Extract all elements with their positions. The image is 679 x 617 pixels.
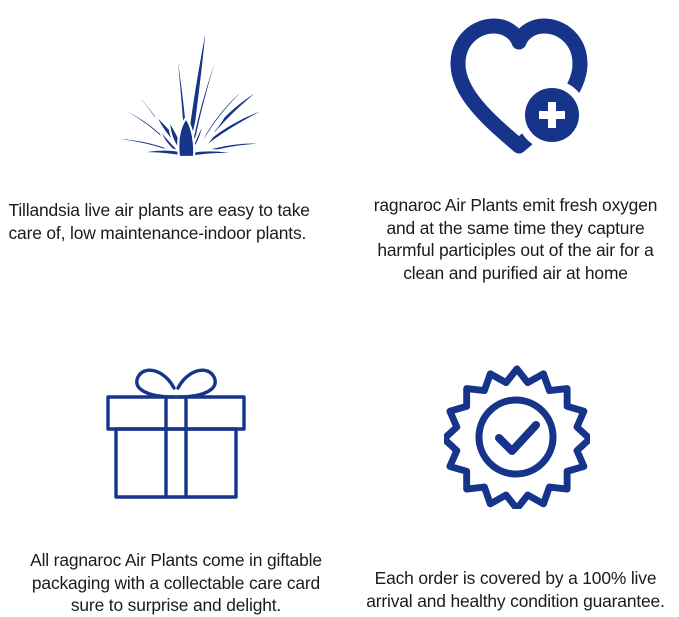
heart-plus-icon bbox=[444, 14, 594, 154]
feature-caption: ragnaroc Air Plants emit fresh oxygen an… bbox=[356, 194, 676, 285]
feature-grid: Tillandsia live air plants are easy to t… bbox=[0, 0, 679, 617]
feature-cell-giftable-packaging: All ragnaroc Air Plants come in giftable… bbox=[0, 308, 352, 617]
feature-caption: Tillandsia live air plants are easy to t… bbox=[9, 199, 349, 244]
air-plant-icon bbox=[89, 2, 279, 162]
feature-cell-live-arrival-guarantee: Each order is covered by a 100% live arr… bbox=[352, 308, 679, 617]
verified-badge-icon bbox=[444, 363, 590, 509]
feature-caption: All ragnaroc Air Plants come in giftable… bbox=[11, 549, 341, 617]
feature-cell-air-plant-care: Tillandsia live air plants are easy to t… bbox=[0, 0, 352, 308]
feature-cell-fresh-oxygen: ragnaroc Air Plants emit fresh oxygen an… bbox=[352, 0, 679, 308]
gift-box-icon bbox=[96, 355, 256, 505]
feature-caption: Each order is covered by a 100% live arr… bbox=[355, 567, 677, 612]
